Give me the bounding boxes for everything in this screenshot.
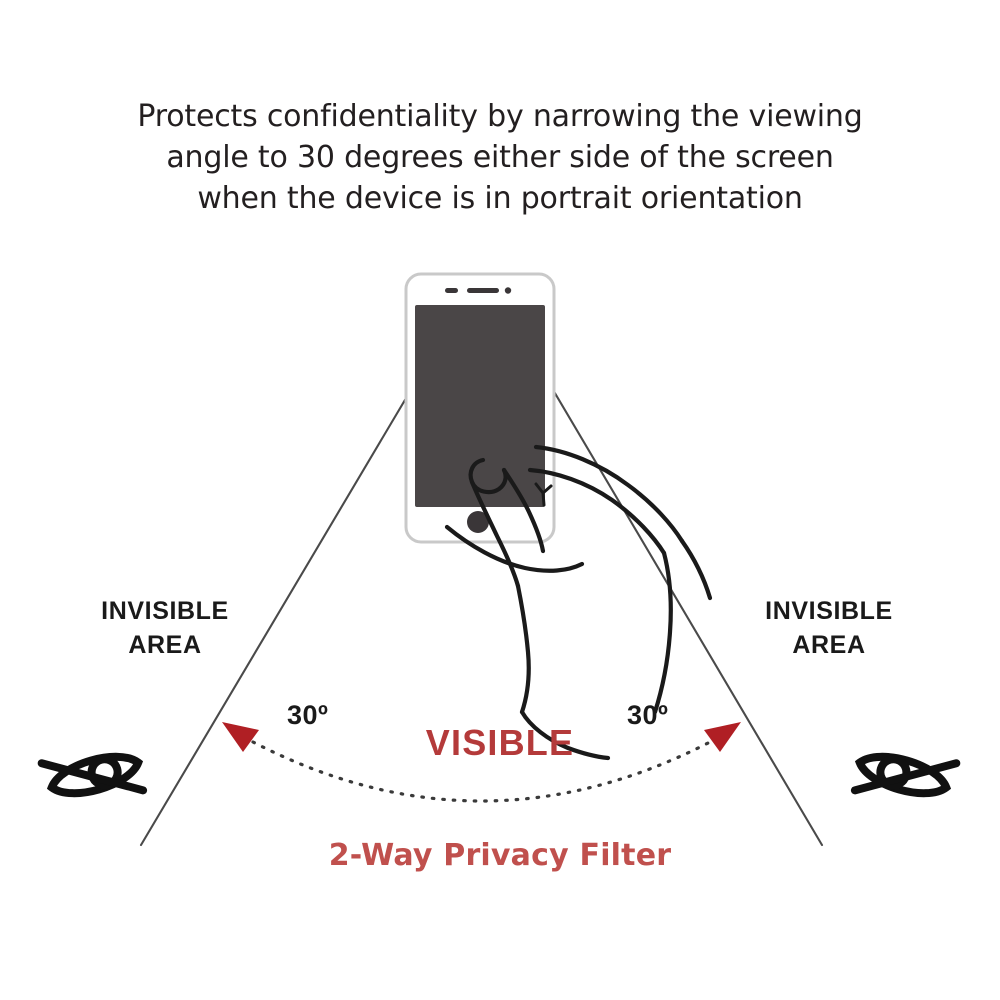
- index-finger-left-edge: [472, 482, 518, 586]
- eye-outline: [48, 748, 143, 802]
- heading-line-2: angle to 30 degrees either side of the s…: [90, 137, 910, 178]
- invisible-area-label-right-line1: INVISIBLE: [714, 594, 944, 628]
- middle-finger-top-edge: [530, 470, 664, 553]
- eye-slash: [855, 738, 956, 815]
- eye-off-icon-left: [42, 738, 146, 816]
- phone-earpiece-icon: [467, 288, 499, 293]
- eye-off-icon-right: [852, 738, 956, 816]
- hand-upper-contour: [536, 447, 682, 541]
- arrowhead-right-icon: [704, 722, 741, 752]
- phone-home-button[interactable]: [467, 511, 489, 533]
- page-title: Protects confidentiality by narrowing th…: [90, 96, 910, 219]
- hand-under-phone-crease: [447, 527, 582, 571]
- index-finger-right-edge: [504, 470, 543, 551]
- privacy-filter-diagram: Protects confidentiality by narrowing th…: [0, 0, 1000, 1000]
- angle-label-left: 30º: [287, 700, 328, 731]
- invisible-area-label-right: INVISIBLE AREA: [714, 594, 944, 662]
- phone-chassis: [406, 274, 554, 542]
- eye-outline: [856, 748, 951, 802]
- angle-label-right: 30º: [627, 700, 668, 731]
- eye-slash: [42, 738, 143, 815]
- phone-body: [406, 274, 554, 542]
- hand-back-contour: [682, 541, 710, 598]
- phone-screen: [415, 305, 545, 507]
- knuckle-crease: [536, 484, 551, 505]
- arrowhead-left-icon: [222, 722, 259, 752]
- invisible-area-label-left-line1: INVISIBLE: [50, 594, 280, 628]
- phone-front-camera-icon: [505, 287, 511, 293]
- hand-right-outer-contour: [655, 553, 671, 712]
- visible-area-label: VISIBLE: [380, 722, 620, 764]
- palm-left-contour: [518, 586, 529, 712]
- product-caption: 2-Way Privacy Filter: [250, 838, 750, 873]
- invisible-area-label-left: INVISIBLE AREA: [50, 594, 280, 662]
- invisible-area-label-left-line2: AREA: [50, 628, 280, 662]
- eye-pupil: [89, 756, 121, 788]
- eye-pupil: [877, 756, 909, 788]
- phone-sensor-icon: [445, 288, 458, 293]
- heading-line-3: when the device is in portrait orientati…: [90, 178, 910, 219]
- heading-line-1: Protects confidentiality by narrowing th…: [90, 96, 910, 137]
- index-fingertip: [471, 460, 506, 492]
- invisible-area-label-right-line2: AREA: [714, 628, 944, 662]
